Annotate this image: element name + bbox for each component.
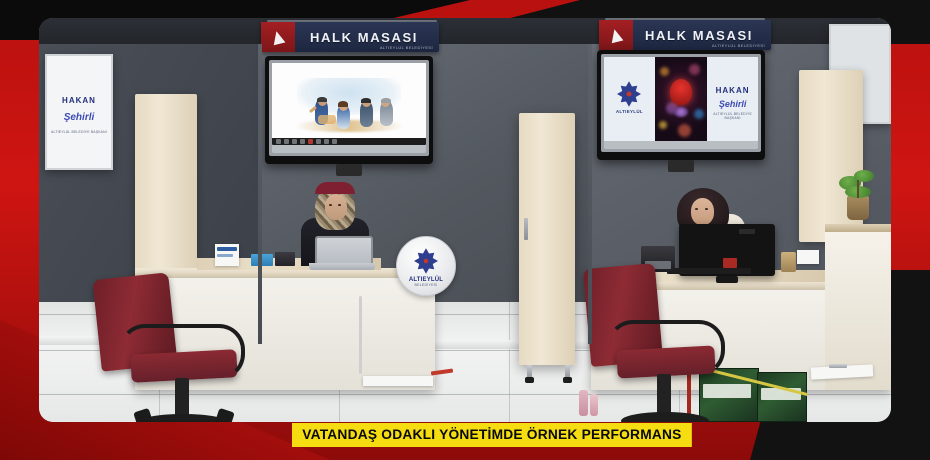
wall-trim-left [258,44,262,344]
chair-right-armrest[interactable] [607,320,725,376]
turkish-flag-emblem-icon [670,79,692,105]
plant-pot [847,196,869,220]
office-scene: HALK MASASI ALTIEYLÜL BELEDİYESİ HALK MA… [39,18,891,422]
left-counter-note[interactable] [363,376,433,386]
municipality-logo-icon-right [599,20,633,50]
right-tv-logo-panel: ALTIEYLÜL [604,57,655,141]
wall-trim-right [588,44,592,344]
right-side-cabinet-top [825,224,891,232]
poster-line2: Şehirli [47,112,111,123]
right-tv-name-line1: HAKAN [707,86,758,95]
right-tv-name-line2: Şehirli [707,99,758,109]
right-tv-logo-caption: ALTIEYLÜL [604,109,655,114]
floor-bottle-1 [579,390,588,416]
counter-logo-subtitle: BELEDİYESİ [415,283,438,287]
right-desk-red-item[interactable] [723,258,737,268]
plant-stem [857,180,859,198]
poster-line1: HAKAN [47,96,111,105]
municipality-logo-icon [261,22,295,52]
left-tv-screen-content [272,63,426,145]
right-desk-cup[interactable] [781,252,796,272]
headline-caption: VATANDAŞ ODAKLI YÖNETİMDE ÖRNEK PERFORMA… [292,423,692,447]
clerk-left-face [325,194,347,220]
sign-right-sub: ALTIEYLÜL BELEDİYESİ [712,43,765,48]
chair-left-armrest[interactable] [119,324,245,380]
right-tv-text-panel: HAKAN Şehirli ALTIEYLÜL BELEDİYE BAŞKANI [707,57,758,141]
sign-left-text: HALK MASASI [295,30,439,45]
left-laptop-base[interactable] [309,263,375,270]
left-television [265,56,433,164]
floor-bottle-2 [590,394,598,416]
news-photo: HALK MASASI ALTIEYLÜL BELEDİYESİ HALK MA… [39,18,891,422]
right-tv-center-image [655,57,707,141]
right-tv-name-line3: ALTIEYLÜL BELEDİYE BAŞKANI [707,112,758,120]
poster-line3: ALTIEYLÜL BELEDİYE BAŞKANI [47,130,111,134]
left-tv-taskbar [272,138,426,145]
sign-right-text: HALK MASASI [633,28,771,43]
left-desk-blue-box[interactable] [251,254,273,266]
right-television: ALTIEYLÜL [597,50,765,160]
sign-halk-masasi-right: HALK MASASI ALTIEYLÜL BELEDİYESİ [599,20,771,50]
right-tv-stand [668,160,694,172]
altieylul-star-icon [614,79,644,109]
hakan-sehirli-poster: HAKAN Şehirli ALTIEYLÜL BELEDİYE BAŞKANI [45,54,113,170]
left-tv-stand [336,164,362,176]
sign-left-sub: ALTIEYLÜL BELEDİYESİ [380,45,433,50]
monitor-logo [739,229,755,234]
cabinet-handle[interactable] [524,218,528,240]
right-desk-keyboard[interactable] [667,268,751,274]
counter-altieylul-emblem: ALTIEYLÜL BELEDİYESİ [396,236,456,296]
left-counter-cable [359,296,362,374]
left-desk-dark-box[interactable] [275,252,295,266]
altieylul-star-icon-counter [411,246,441,276]
right-desk-card[interactable] [797,250,819,264]
clipboard-clip [829,364,847,368]
clerk-right-face [691,198,714,225]
screenshot-root: HALK MASASI ALTIEYLÜL BELEDİYESİ HALK MA… [0,0,930,460]
sign-halk-masasi-left: HALK MASASI ALTIEYLÜL BELEDİYESİ [261,22,439,52]
clerk-left-scarf-band [315,182,355,194]
